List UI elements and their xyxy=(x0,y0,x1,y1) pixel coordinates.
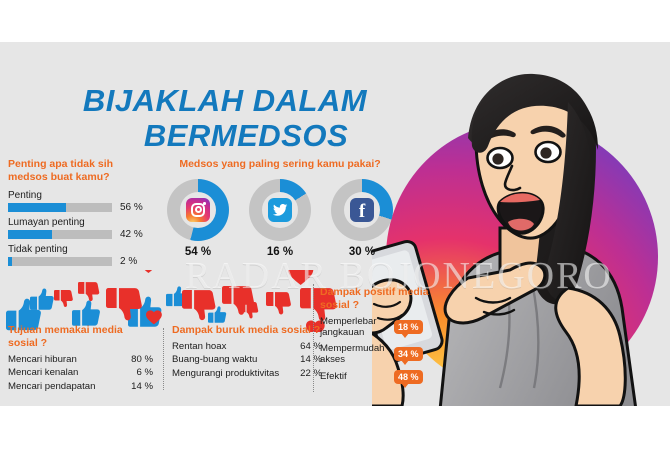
list-item: Mengurangi produktivitas 22 % xyxy=(172,367,322,381)
list-item-label: Mencari hiburan xyxy=(8,353,119,367)
donut-facebook: f 30 % xyxy=(324,179,400,258)
heart-group xyxy=(138,270,325,332)
importance-section: Penting apa tidak sih medsos buat kamu? … xyxy=(8,158,153,271)
facebook-icon: f xyxy=(350,198,374,222)
list-item-value: 14 % xyxy=(288,353,322,367)
twitter-icon xyxy=(268,198,292,222)
bar-fill xyxy=(8,203,66,212)
list-item-label: Efektif xyxy=(320,371,394,383)
bar-value: 56 % xyxy=(120,202,143,213)
status-badge: 18 % xyxy=(394,320,423,335)
bar-row: Penting 56 % xyxy=(8,190,153,213)
list-item-label: Mempermudah akses xyxy=(320,343,394,366)
importance-heading: Penting apa tidak sih medsos buat kamu? xyxy=(8,158,153,184)
list-item: Buang-buang waktu 14 % xyxy=(172,353,322,367)
list-item-value: 14 % xyxy=(119,380,153,394)
bar-value: 42 % xyxy=(120,229,143,240)
list-item-value: 6 % xyxy=(119,366,153,380)
negative-impact-heading: Dampak buruk media sosial ? xyxy=(172,324,322,337)
positive-impact-section: Dampak positif media sosial ? Memperleba… xyxy=(320,286,440,384)
bar-fill xyxy=(8,257,12,266)
donut-twitter: 16 % xyxy=(242,179,318,258)
list-item: Efektif 48 % xyxy=(320,370,440,385)
platforms-section: Medsos yang paling sering kamu pakai? 54… xyxy=(160,158,400,258)
bar-row: Lumayan penting 42 % xyxy=(8,217,153,240)
bar-fill xyxy=(8,230,52,239)
donut-value: 30 % xyxy=(324,246,400,258)
platforms-heading: Medsos yang paling sering kamu pakai? xyxy=(160,158,400,171)
divider-left xyxy=(163,328,164,390)
donut-ring xyxy=(167,179,229,241)
donut-ring xyxy=(249,179,311,241)
list-item-label: Mengurangi produktivitas xyxy=(172,367,288,381)
status-badge: 34 % xyxy=(394,347,423,362)
list-item: Mempermudah akses 34 % xyxy=(320,343,440,366)
donut-value: 16 % xyxy=(242,246,318,258)
instagram-icon xyxy=(186,198,210,222)
bar-row: Tidak penting 2 % xyxy=(8,244,153,267)
donut-value: 54 % xyxy=(160,246,236,258)
list-item-label: Mencari pendapatan xyxy=(8,380,119,394)
bar-track xyxy=(8,203,112,212)
donut-ring: f xyxy=(331,179,393,241)
infographic-canvas: BIJAKLAH DALAM BERMEDSOS xyxy=(0,42,670,406)
positive-impact-heading: Dampak positif media sosial ? xyxy=(320,286,440,312)
list-item-value: 64 % xyxy=(288,340,322,354)
list-item: Mencari pendapatan 14 % xyxy=(8,380,153,394)
list-item: Memperlebar jangkauan 18 % xyxy=(320,316,440,339)
bar-label: Tidak penting xyxy=(8,244,153,255)
list-item: Mencari hiburan 80 % xyxy=(8,353,153,367)
purpose-section: Tujuan memakai media sosial ? Mencari hi… xyxy=(8,324,153,393)
bar-track xyxy=(8,257,112,266)
bar-value: 2 % xyxy=(120,256,137,267)
title-line-2: BERMEDSOS xyxy=(60,119,390,154)
bar-label: Lumayan penting xyxy=(8,217,153,228)
bar-label: Penting xyxy=(8,190,153,201)
list-item: Rentan hoax 64 % xyxy=(172,340,322,354)
list-item: Mencari kenalan 6 % xyxy=(8,366,153,380)
list-item-label: Mencari kenalan xyxy=(8,366,119,380)
list-item-value: 80 % xyxy=(119,353,153,367)
bar-track xyxy=(8,230,112,239)
purpose-heading: Tujuan memakai media sosial ? xyxy=(8,324,153,350)
negative-impact-section: Dampak buruk media sosial ? Rentan hoax … xyxy=(172,324,322,381)
list-item-label: Memperlebar jangkauan xyxy=(320,316,394,339)
list-item-value: 22 % xyxy=(288,367,322,381)
page-title: BIJAKLAH DALAM BERMEDSOS xyxy=(60,84,390,153)
donut-instagram: 54 % xyxy=(160,179,236,258)
list-item-label: Rentan hoax xyxy=(172,340,288,354)
thumbs-down-group xyxy=(54,282,336,321)
status-badge: 48 % xyxy=(394,370,423,385)
infographic-image: BIJAKLAH DALAM BERMEDSOS xyxy=(0,0,670,450)
title-line-1: BIJAKLAH DALAM xyxy=(83,83,367,118)
list-item-label: Buang-buang waktu xyxy=(172,353,288,367)
